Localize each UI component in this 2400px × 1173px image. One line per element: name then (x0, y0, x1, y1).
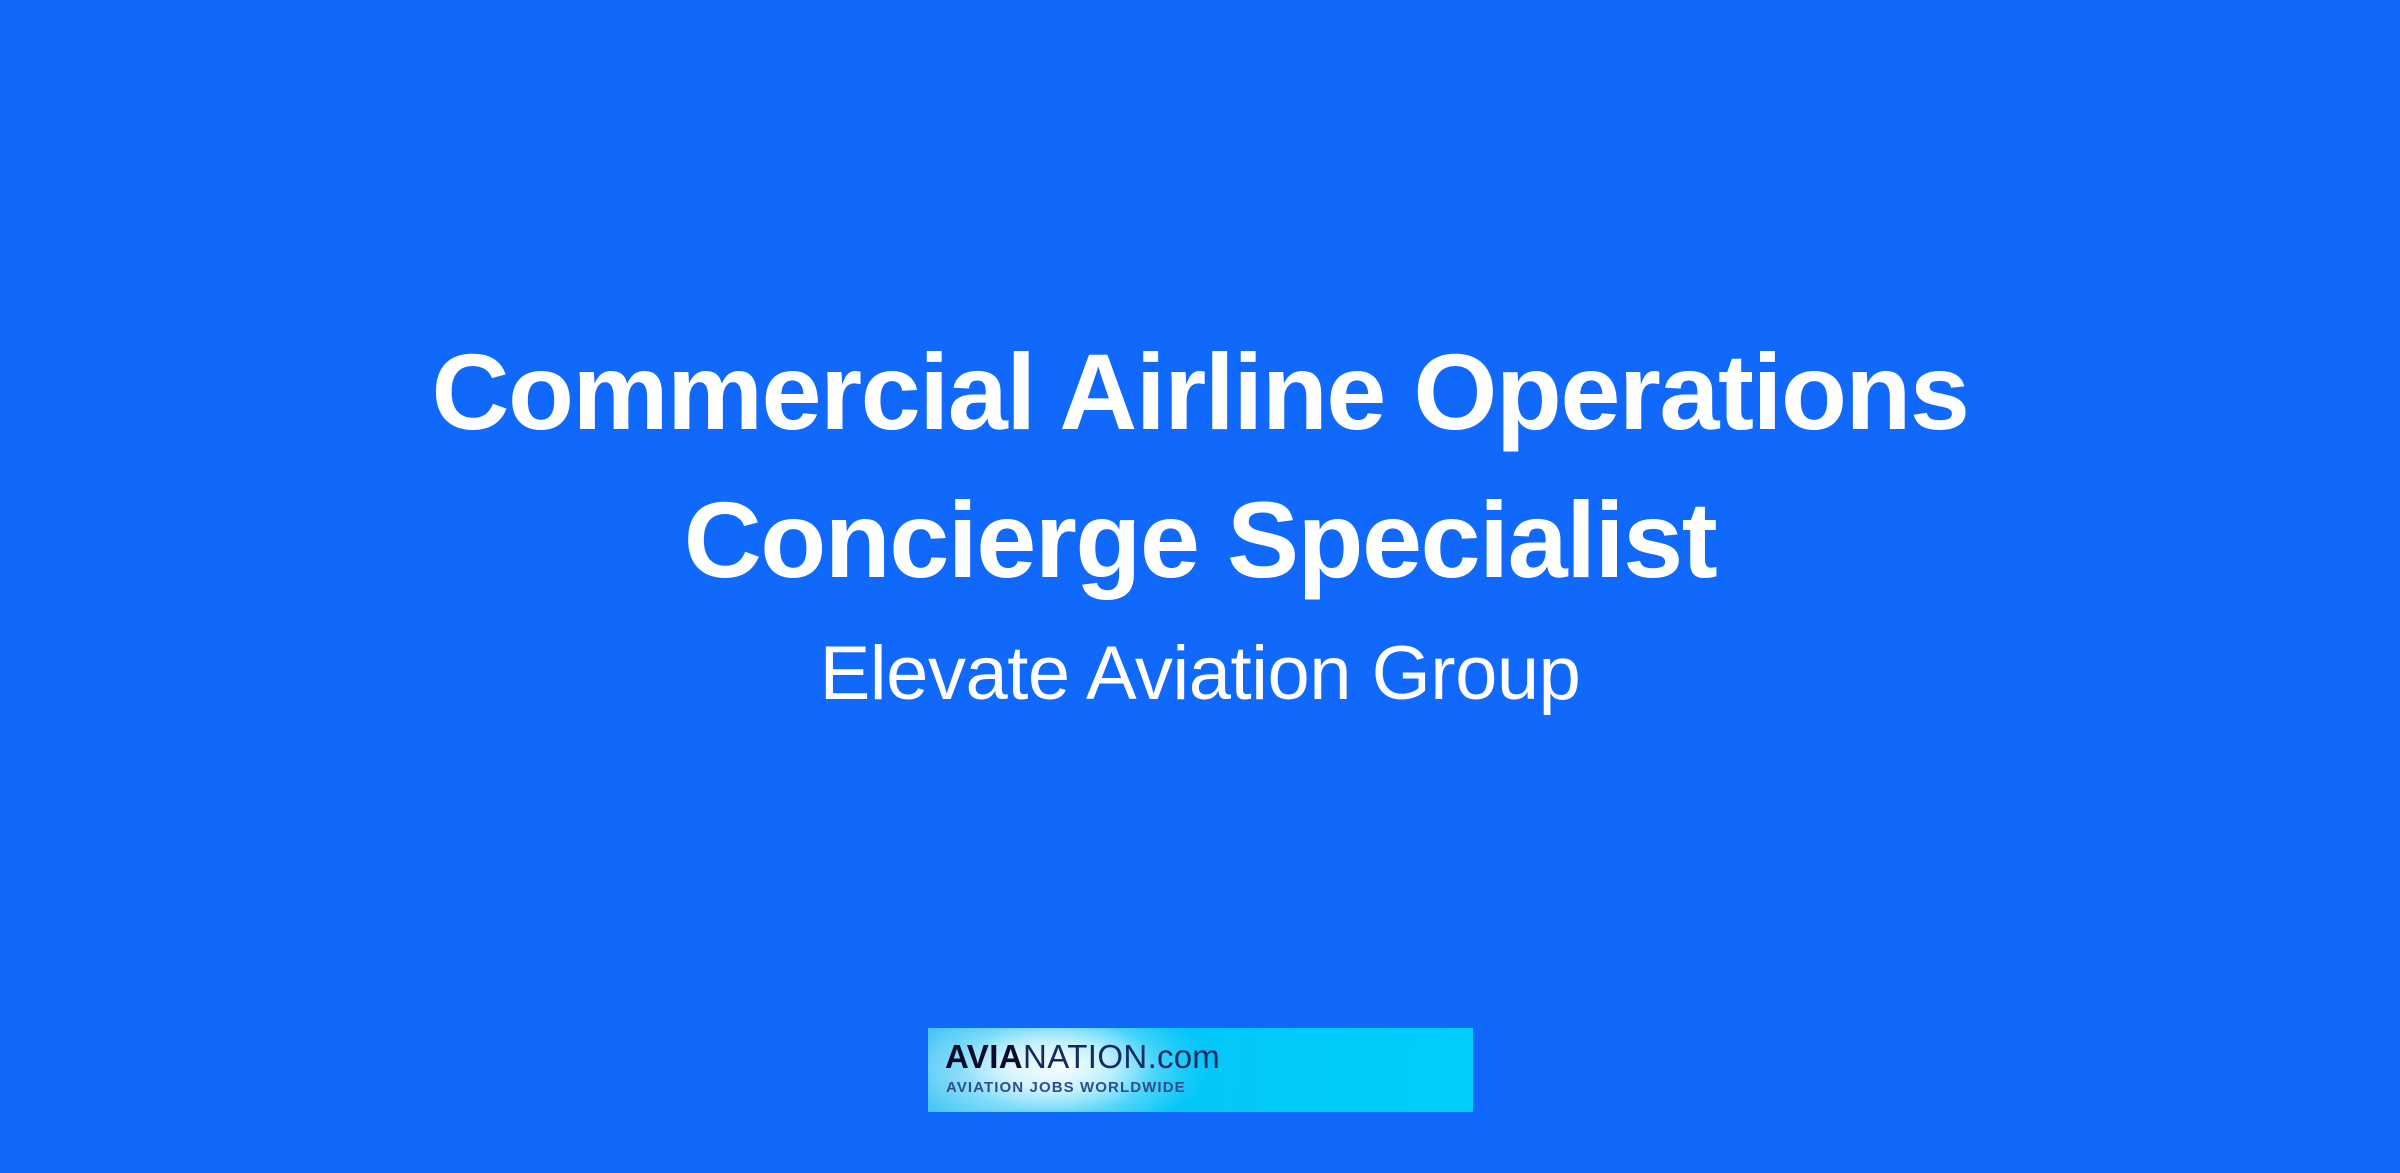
headline-block: Commercial Airline Operations Concierge … (0, 318, 2400, 720)
logo-wordmark-tld: .com (1148, 1038, 1220, 1075)
avianation-logo[interactable]: AVIANATION.com AVIATION JOBS WORLDWIDE (928, 1028, 1473, 1112)
logo-wordmark: AVIANATION.com (945, 1040, 1220, 1073)
logo-wordmark-bold: AVIA (945, 1038, 1023, 1075)
job-posting-slide: Commercial Airline Operations Concierge … (0, 0, 2400, 1173)
logo-wordmark-light: NATION (1023, 1038, 1148, 1075)
page-title: Commercial Airline Operations Concierge … (0, 318, 2400, 614)
logo-tagline: AVIATION JOBS WORLDWIDE (946, 1080, 1186, 1096)
company-name: Elevate Aviation Group (0, 628, 2400, 720)
